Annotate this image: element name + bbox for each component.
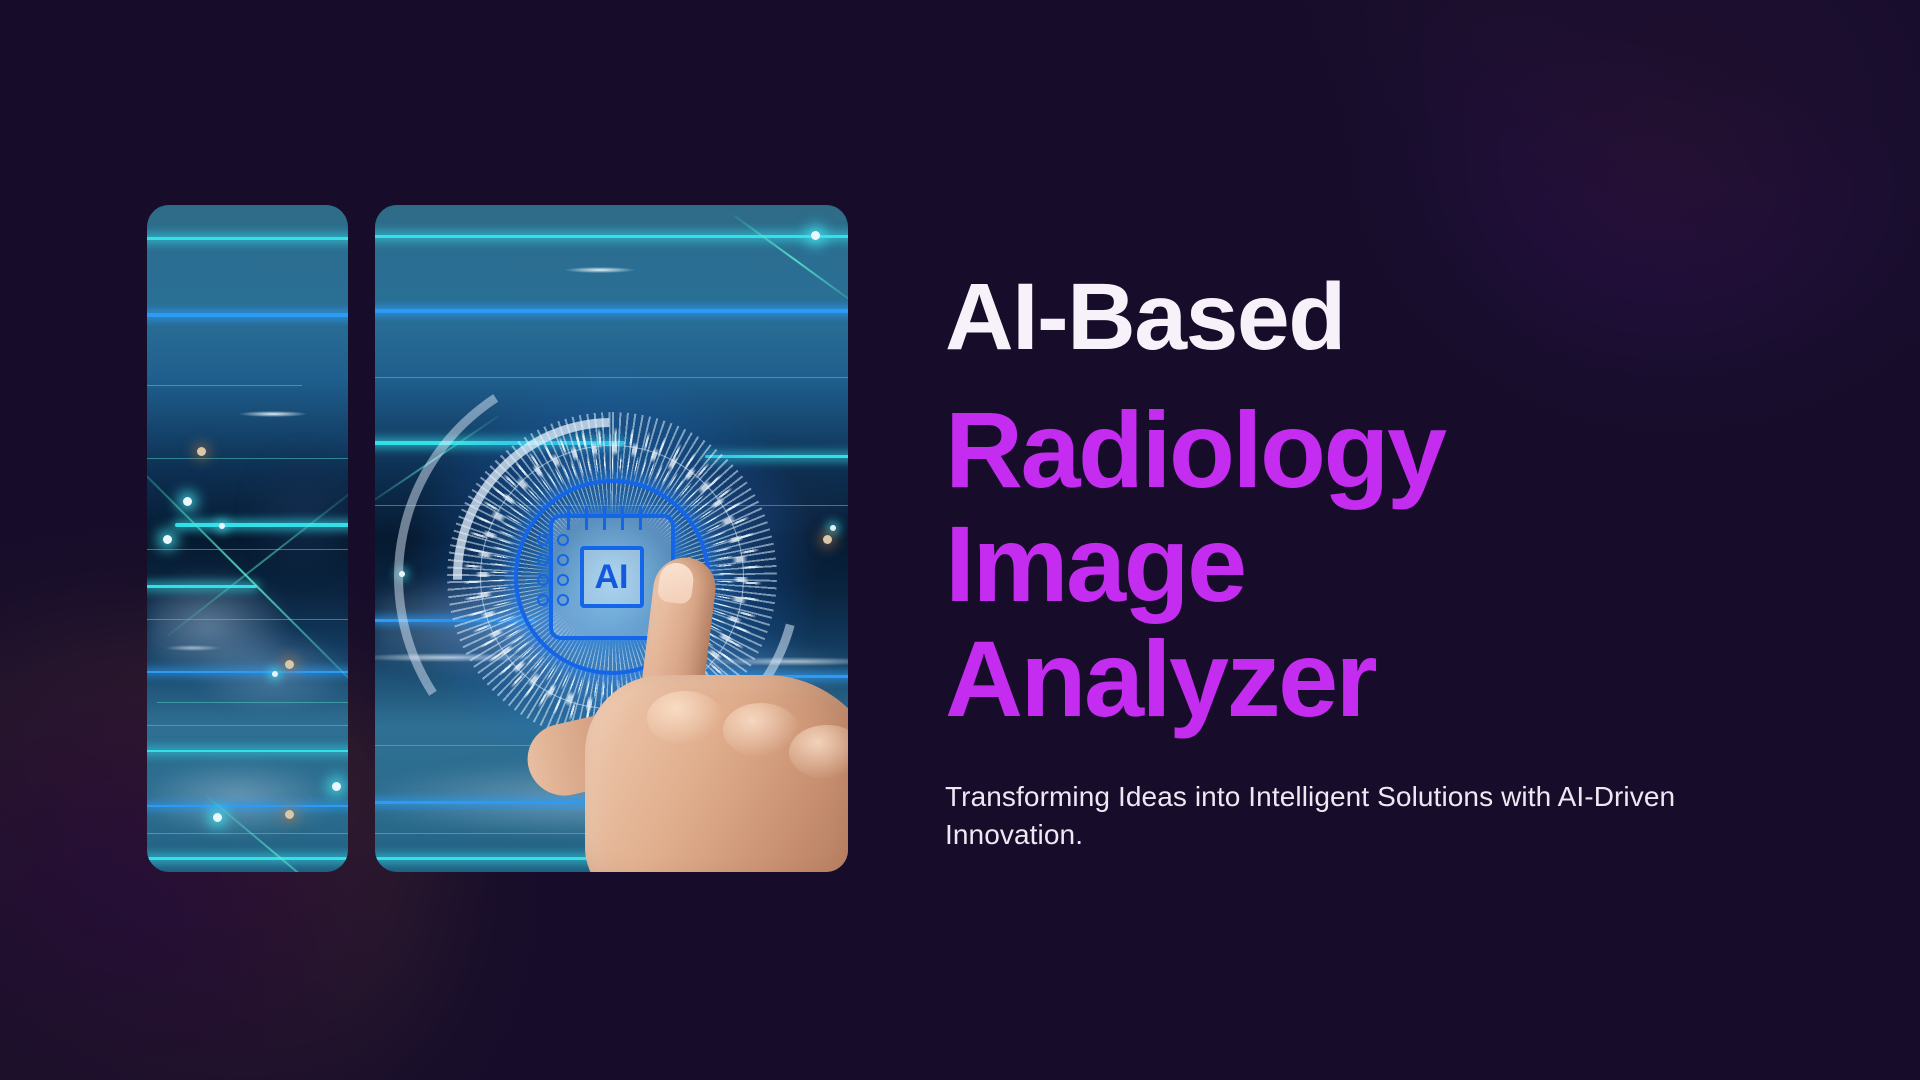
pointing-hand bbox=[527, 557, 848, 872]
knuckle bbox=[647, 691, 723, 745]
ai-touch-panel[interactable]: AI bbox=[375, 205, 848, 872]
hero-copy: AI-Based Radiology Image Analyzer Transf… bbox=[945, 270, 1735, 881]
hero-title-line-1: Radiology Image bbox=[945, 389, 1445, 624]
hero-main-title: Radiology Image Analyzer bbox=[945, 393, 1735, 736]
hero-subtitle: Transforming Ideas into Intelligent Solu… bbox=[945, 778, 1700, 853]
hero-eyebrow-title: AI-Based bbox=[945, 270, 1735, 365]
knuckle bbox=[723, 703, 799, 757]
hero-media-gallery: AI bbox=[147, 205, 848, 872]
hero-title-line-2: Analyzer bbox=[945, 618, 1375, 739]
circuit-board-panel[interactable] bbox=[147, 205, 348, 872]
circuit-traces bbox=[147, 205, 348, 872]
